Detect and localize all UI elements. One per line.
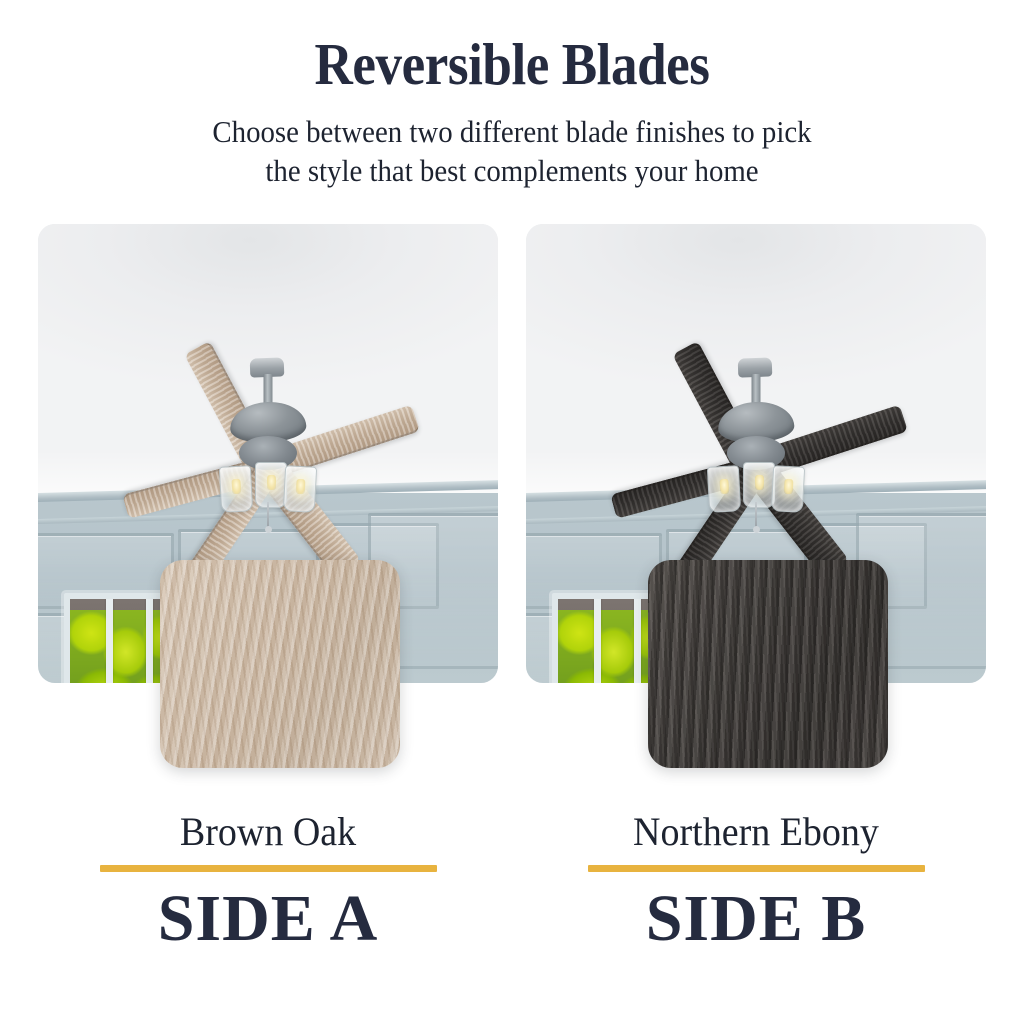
caption-side-a: Brown Oak SIDE A	[38, 812, 498, 953]
brown-oak-wood-swatch	[160, 560, 400, 768]
glass-light-shade	[219, 465, 253, 513]
subtitle-line-1: Choose between two different blade finis…	[36, 112, 988, 151]
glass-light-shade	[283, 465, 317, 513]
glass-light-shade	[743, 462, 775, 508]
glass-light-shade	[707, 465, 741, 513]
subtitle-line-2: the style that best complements your hom…	[36, 151, 988, 190]
fan-downrod	[752, 374, 761, 404]
side-label-b: SIDE B	[526, 884, 986, 953]
finish-name-side-b: Northern Ebony	[538, 812, 975, 852]
gold-divider	[588, 865, 925, 872]
gold-divider	[100, 865, 437, 872]
pull-chain	[755, 502, 757, 528]
pull-chain	[267, 502, 269, 528]
fan-light-kit	[222, 460, 314, 518]
infographic-root: Reversible Blades Choose between two dif…	[0, 0, 1024, 1024]
fan-light-kit	[710, 460, 802, 518]
side-label-a: SIDE A	[38, 884, 498, 953]
glass-light-shade	[255, 462, 287, 508]
glass-light-shade	[771, 465, 805, 513]
finish-name-side-a: Brown Oak	[50, 812, 487, 852]
caption-side-b: Northern Ebony SIDE B	[526, 812, 986, 953]
northern-ebony-wood-swatch	[648, 560, 888, 768]
page-title: Reversible Blades	[51, 34, 973, 96]
fan-downrod	[264, 374, 273, 404]
page-subtitle: Choose between two different blade finis…	[36, 112, 988, 190]
